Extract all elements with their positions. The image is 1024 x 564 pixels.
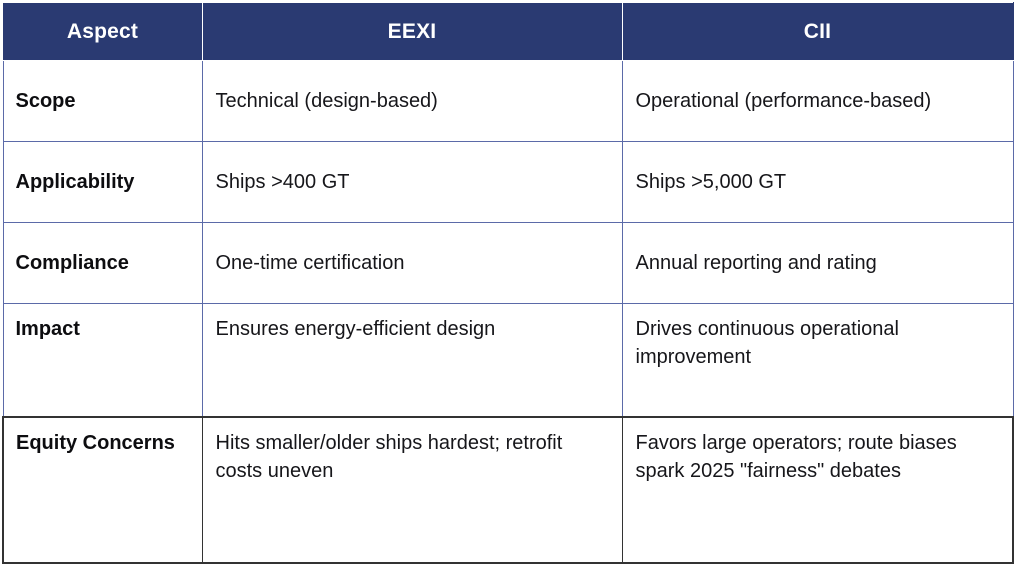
cell-aspect-applicability: Applicability xyxy=(3,142,202,223)
table-row: Equity Concerns Hits smaller/older ships… xyxy=(3,417,1013,563)
cell-cii-scope: Operational (performance-based) xyxy=(622,61,1013,142)
table-header: Aspect EEXI CII xyxy=(3,3,1013,61)
column-header-eexi: EEXI xyxy=(202,3,622,61)
table-row: Impact Ensures energy-efficient design D… xyxy=(3,304,1013,418)
cell-eexi-equity-concerns: Hits smaller/older ships hardest; retrof… xyxy=(202,417,622,563)
table-row: Scope Technical (design-based) Operation… xyxy=(3,61,1013,142)
table-header-row: Aspect EEXI CII xyxy=(3,3,1013,61)
cell-aspect-impact: Impact xyxy=(3,304,202,418)
cell-cii-equity-concerns: Favors large operators; route biases spa… xyxy=(622,417,1013,563)
cell-cii-compliance: Annual reporting and rating xyxy=(622,223,1013,304)
cell-aspect-compliance: Compliance xyxy=(3,223,202,304)
table-row: Applicability Ships >400 GT Ships >5,000… xyxy=(3,142,1013,223)
cell-cii-applicability: Ships >5,000 GT xyxy=(622,142,1013,223)
cell-eexi-applicability: Ships >400 GT xyxy=(202,142,622,223)
comparison-table-container: Aspect EEXI CII Scope Technical (design-… xyxy=(0,0,1024,442)
column-header-cii: CII xyxy=(622,3,1013,61)
cell-eexi-impact: Ensures energy-efficient design xyxy=(202,304,622,418)
eexi-cii-comparison-table: Aspect EEXI CII Scope Technical (design-… xyxy=(2,2,1014,564)
column-header-aspect: Aspect xyxy=(3,3,202,61)
cell-cii-impact: Drives continuous operational improvemen… xyxy=(622,304,1013,418)
cell-eexi-scope: Technical (design-based) xyxy=(202,61,622,142)
table-body: Scope Technical (design-based) Operation… xyxy=(3,61,1013,564)
table-row: Compliance One-time certification Annual… xyxy=(3,223,1013,304)
cell-aspect-equity-concerns: Equity Concerns xyxy=(3,417,202,563)
cell-aspect-scope: Scope xyxy=(3,61,202,142)
cell-eexi-compliance: One-time certification xyxy=(202,223,622,304)
